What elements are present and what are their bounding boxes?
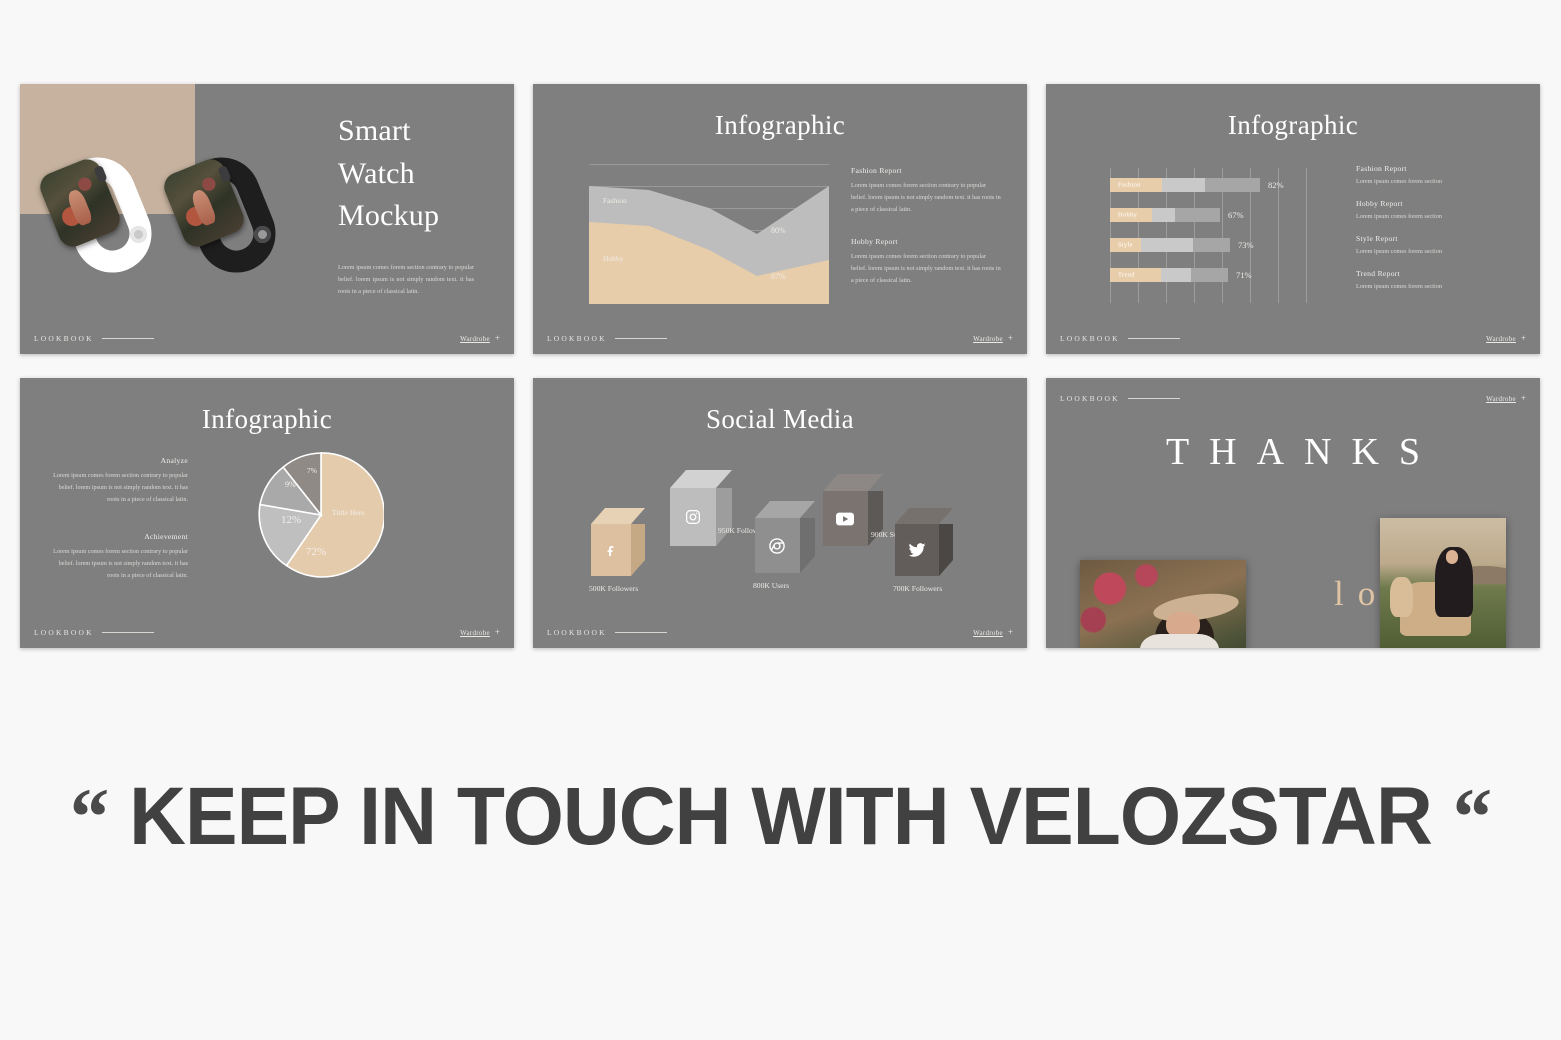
title-line-1: Smart <box>338 114 411 147</box>
footer-wardrobe-link[interactable]: Wardrobe + <box>973 334 1013 343</box>
footer-brand: LOOKBOOK <box>34 628 154 637</box>
slide-infographic-pie[interactable]: Infographic Analyze Lorem ipsum comes fo… <box>20 378 514 648</box>
text-block-achievement: Achievement Lorem ipsum comes forem sect… <box>48 532 188 582</box>
text-block-analyze: Analyze Lorem ipsum comes forem section … <box>48 456 188 506</box>
area-chart-svg <box>589 164 829 304</box>
thanks-title: THANKS <box>1046 430 1540 474</box>
area-value-label-fashion: 80% <box>771 226 786 235</box>
footer-rule <box>1128 398 1180 399</box>
report-block-hobby: Hobby Report Lorem ipsum comes forem sec… <box>1356 199 1516 220</box>
slide-thanks[interactable]: LOOKBOOK Wardrobe + THANKS lookbo <box>1046 378 1540 648</box>
footer-wardrobe-label: Wardrobe <box>1486 335 1516 343</box>
area-chart: Fashion Hobby 80% 87% <box>589 164 829 304</box>
slide-grid: Smart Watch Mockup Lorem ipsum comes for… <box>20 84 1541 650</box>
facebook-icon <box>605 544 617 556</box>
report-heading: Trend Report <box>1356 269 1516 278</box>
slide3-title: Infographic <box>1046 110 1540 141</box>
instagram-icon <box>685 509 702 526</box>
title-line-3: Mockup <box>338 199 439 232</box>
report-body: Lorem ipsum comes forem section <box>1356 283 1516 290</box>
header-brand: LOOKBOOK <box>1060 394 1180 403</box>
pie-value-72: 72% <box>306 546 326 558</box>
bar-value: 82% <box>1268 180 1284 190</box>
report-block-trend: Trend Report Lorem ipsum comes forem sec… <box>1356 269 1516 290</box>
slide3-report-column: Fashion Report Lorem ipsum comes forem s… <box>1356 164 1516 290</box>
bar-label: Hobby <box>1118 212 1137 219</box>
bar-label: Fashion <box>1118 182 1141 189</box>
pie-chart: Tittle Here 72% 12% 9% 7% <box>258 452 384 578</box>
footer-wardrobe-label: Wardrobe <box>973 335 1003 343</box>
footer-rule <box>615 338 667 339</box>
photo-woman-hat <box>1080 560 1246 648</box>
header-wardrobe-link[interactable]: Wardrobe + <box>1486 394 1526 403</box>
pie-value-12: 12% <box>281 514 301 526</box>
keep-in-touch-banner: “ KEEP IN TOUCH WITH VELOZSTAR “ <box>31 770 1530 864</box>
photo-woman-horse <box>1380 518 1506 648</box>
footer-brand-label: LOOKBOOK <box>34 628 94 637</box>
report-heading: Style Report <box>1356 234 1516 243</box>
footer-brand-label: LOOKBOOK <box>34 334 94 343</box>
slide-infographic-bar[interactable]: Infographic Fashion 82% <box>1046 84 1540 354</box>
presentation-preview-page: Smart Watch Mockup Lorem ipsum comes for… <box>0 0 1561 1040</box>
bar-label: Style <box>1118 242 1133 249</box>
plus-icon: + <box>495 628 500 637</box>
footer-rule <box>102 338 154 339</box>
plus-icon: + <box>495 334 500 343</box>
plus-icon: + <box>1008 628 1013 637</box>
quote-close: “ <box>1453 771 1491 862</box>
report-body: Lorem ipsum comes forem section contrary… <box>851 251 1001 287</box>
report-block-style: Style Report Lorem ipsum comes forem sec… <box>1356 234 1516 255</box>
report-heading: Fashion Report <box>1356 164 1516 173</box>
report-body: Lorem ipsum comes forem section contrary… <box>851 180 1001 216</box>
slide1-title: Smart Watch Mockup <box>338 110 488 238</box>
bar-value: 73% <box>1238 240 1254 250</box>
area-value-label-hobby: 87% <box>771 272 786 281</box>
bar-row: Trend <box>1110 268 1228 282</box>
report-block-fashion: Fashion Report Lorem ipsum comes forem s… <box>1356 164 1516 185</box>
footer-rule <box>615 632 667 633</box>
footer-wardrobe-label: Wardrobe <box>1486 395 1516 403</box>
twitter-icon <box>909 543 926 557</box>
bar-row: Style <box>1110 238 1230 252</box>
slide1-text-column: Smart Watch Mockup Lorem ipsum comes for… <box>338 110 488 298</box>
bar-value: 67% <box>1228 210 1244 220</box>
footer-wardrobe-label: Wardrobe <box>973 629 1003 637</box>
footer-wardrobe-link[interactable]: Wardrobe + <box>1486 334 1526 343</box>
block-body: Lorem ipsum comes forem section contrary… <box>48 546 188 582</box>
pie-value-7: 7% <box>307 466 317 475</box>
report-block-fashion: Fashion Report Lorem ipsum comes forem s… <box>851 166 1001 216</box>
bar-chart: Fashion 82% Hobby 67% Style 73% <box>1110 168 1310 303</box>
plus-icon: + <box>1008 334 1013 343</box>
footer-rule <box>102 632 154 633</box>
report-body: Lorem ipsum comes forem section <box>1356 178 1516 185</box>
slide1-paragraph: Lorem ipsum comes forem section contrary… <box>338 262 474 298</box>
area-series-label-fashion: Fashion <box>603 196 627 205</box>
footer-rule <box>1128 338 1180 339</box>
pie-center-label: Tittle Here <box>332 508 364 517</box>
cube-caption: 500K Followers <box>589 584 638 593</box>
report-heading: Hobby Report <box>1356 199 1516 208</box>
footer-brand: LOOKBOOK <box>34 334 154 343</box>
slide4-text-column: Analyze Lorem ipsum comes forem section … <box>48 456 188 581</box>
cube-caption: 800K Users <box>753 581 789 590</box>
slide-smart-watch-mockup[interactable]: Smart Watch Mockup Lorem ipsum comes for… <box>20 84 514 354</box>
smart-watch-mockup-image <box>38 126 308 316</box>
footer-brand-label: LOOKBOOK <box>1060 334 1120 343</box>
bar-label: Trend <box>1118 272 1135 279</box>
footer-brand: LOOKBOOK <box>547 628 667 637</box>
slide4-title: Infographic <box>20 404 514 435</box>
block-heading: Analyze <box>48 456 188 465</box>
bar-row: Fashion <box>1110 178 1260 192</box>
youtube-icon <box>836 513 854 526</box>
block-heading: Achievement <box>48 532 188 541</box>
report-block-hobby: Hobby Report Lorem ipsum comes forem sec… <box>851 237 1001 287</box>
slide2-title: Infographic <box>533 110 1027 141</box>
footer-brand: LOOKBOOK <box>547 334 667 343</box>
block-body: Lorem ipsum comes forem section contrary… <box>48 470 188 506</box>
footer-brand-label: LOOKBOOK <box>1060 394 1120 403</box>
slide2-report-column: Fashion Report Lorem ipsum comes forem s… <box>851 166 1001 286</box>
title-line-2: Watch <box>338 157 415 190</box>
pie-value-9: 9% <box>285 480 296 489</box>
footer-wardrobe-label: Wardrobe <box>460 335 490 343</box>
report-body: Lorem ipsum comes forem section <box>1356 248 1516 255</box>
pie-chart-svg <box>258 452 384 578</box>
bar-value: 71% <box>1236 270 1252 280</box>
quote-open: “ <box>70 771 108 862</box>
plus-icon: + <box>1521 334 1526 343</box>
report-body: Lorem ipsum comes forem section <box>1356 213 1516 220</box>
plus-icon: + <box>1521 394 1526 403</box>
chrome-icon <box>769 538 786 555</box>
footer-wardrobe-link[interactable]: Wardrobe + <box>460 628 500 637</box>
bar-row: Hobby <box>1110 208 1220 222</box>
slide-social-media[interactable]: Social Media 500K Followers <box>533 378 1027 648</box>
footer-wardrobe-link[interactable]: Wardrobe + <box>973 628 1013 637</box>
footer-brand-label: LOOKBOOK <box>547 334 607 343</box>
area-series-label-hobby: Hobby <box>603 254 623 263</box>
slide5-title: Social Media <box>533 404 1027 435</box>
cube-caption: 700K Followers <box>893 584 942 593</box>
report-heading: Fashion Report <box>851 166 1001 175</box>
slide-infographic-area[interactable]: Infographic Fashion Hobby 80% 87% <box>533 84 1027 354</box>
footer-brand-label: LOOKBOOK <box>547 628 607 637</box>
banner-text: KEEP IN TOUCH WITH VELOZSTAR <box>129 771 1432 862</box>
report-heading: Hobby Report <box>851 237 1001 246</box>
footer-wardrobe-link[interactable]: Wardrobe + <box>460 334 500 343</box>
footer-brand: LOOKBOOK <box>1060 334 1180 343</box>
footer-wardrobe-label: Wardrobe <box>460 629 490 637</box>
